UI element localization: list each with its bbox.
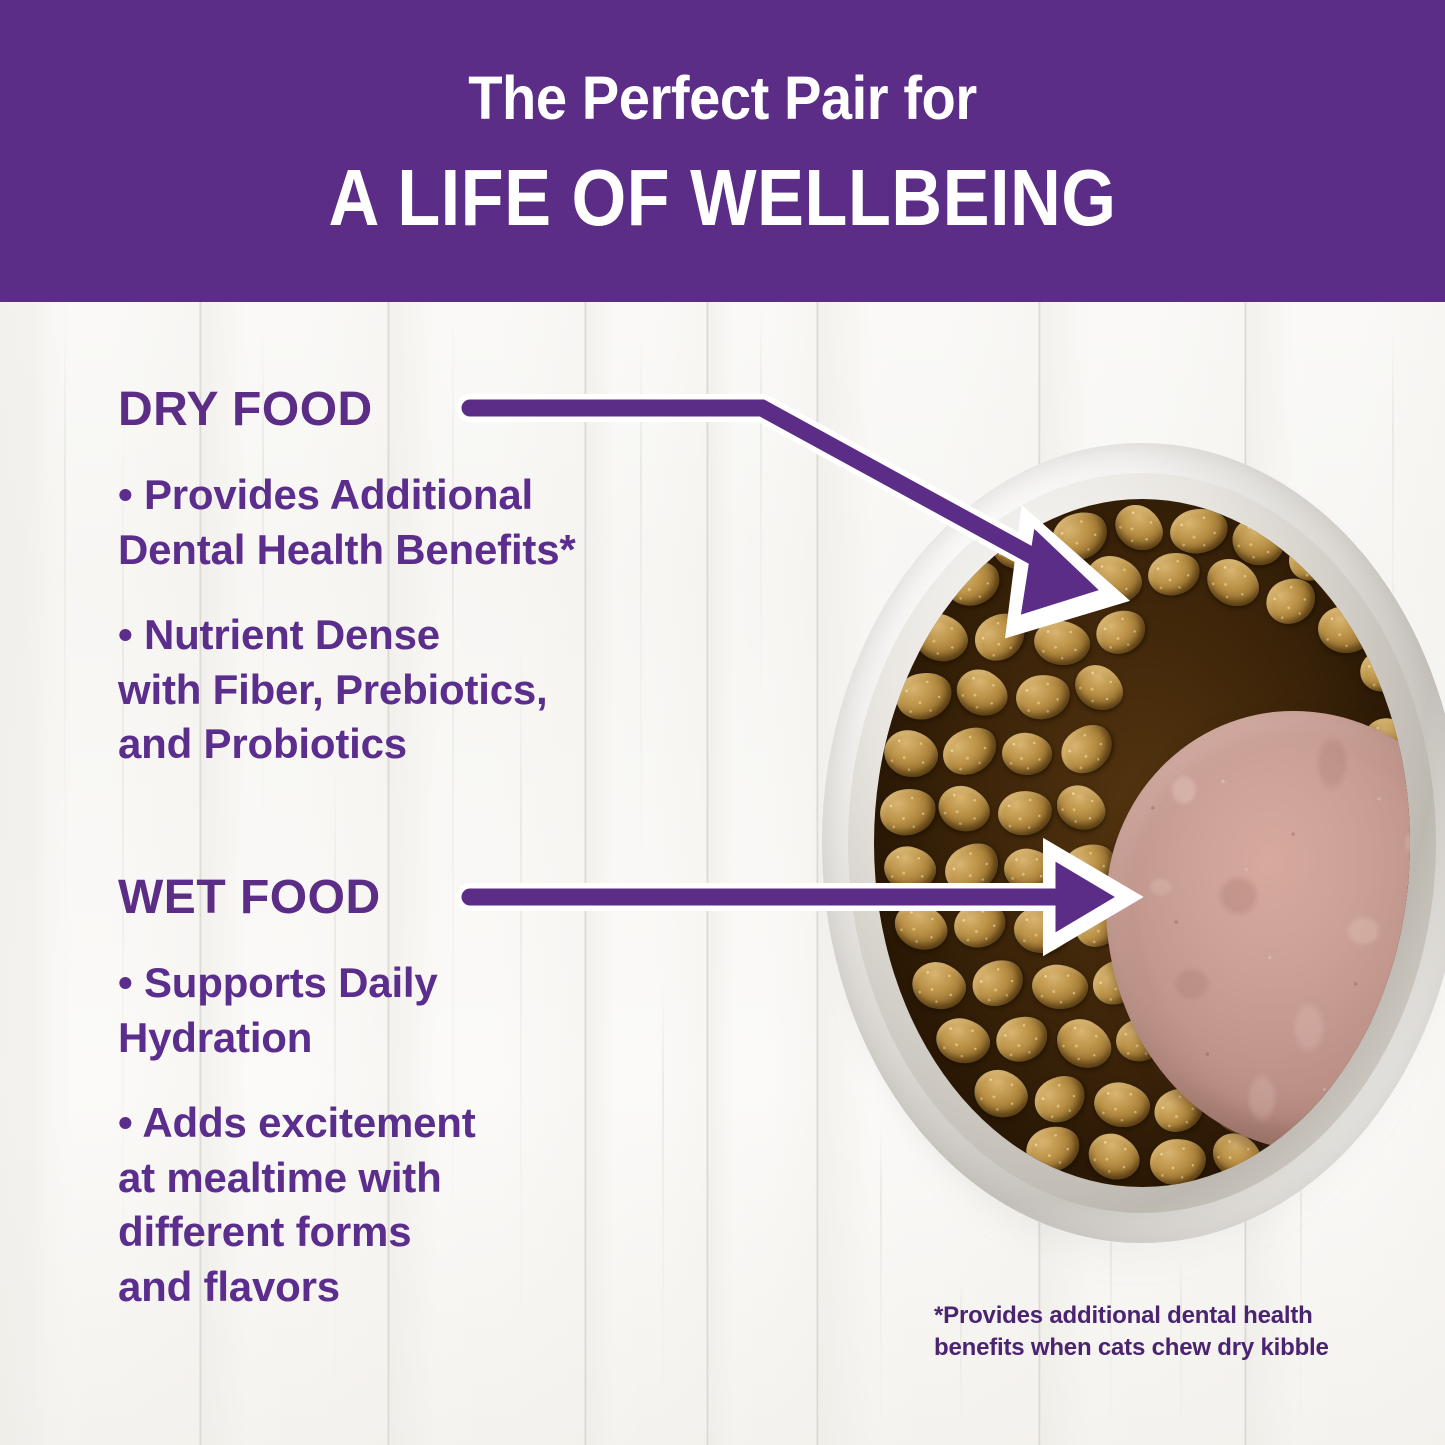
dry-food-heading: DRY FOOD [118,386,373,434]
header-band: The Perfect Pair for A LIFE OF WELLBEING [0,0,1445,302]
bowl-interior [874,499,1410,1187]
dry-food-bullet-1-line-1: • Provides Additional [118,468,798,523]
footnote-line-2: benefits when cats chew dry kibble [934,1332,1364,1364]
wet-food-bullet-1-line-2: Hydration [118,1011,798,1066]
wet-food-bullet-2-line-4: and flavors [118,1260,798,1315]
dry-food-bullet-2-line-2: with Fiber, Prebiotics, [118,663,798,718]
wet-food-bullet-2-line-3: different forms [118,1205,798,1260]
header-title-line1: The Perfect Pair for [58,68,1387,129]
pet-food-bowl-photo [822,443,1445,1283]
wet-food-bullet-1: • Supports Daily Hydration [118,956,798,1065]
infographic-page: The Perfect Pair for A LIFE OF WELLBEING [0,0,1445,1445]
dry-food-bullet-2-line-3: and Probiotics [118,717,798,772]
wet-food-bullet-2-line-2: at mealtime with [118,1151,798,1206]
footnote-line-1: *Provides additional dental health [934,1300,1364,1332]
wet-food-heading: WET FOOD [118,874,381,922]
header-title-line2: A LIFE OF WELLBEING [87,158,1359,238]
dry-food-bullet-2-line-1: • Nutrient Dense [118,608,798,663]
footnote: *Provides additional dental health benef… [934,1300,1364,1363]
wet-food-bullet-2-line-1: • Adds excitement [118,1096,798,1151]
wet-food-bullet-2: • Adds excitement at mealtime with diffe… [118,1096,798,1314]
dry-food-bullet-1: • Provides Additional Dental Health Bene… [118,468,798,577]
wet-food-bullet-1-line-1: • Supports Daily [118,956,798,1011]
dry-food-bullet-1-line-2: Dental Health Benefits* [118,523,798,578]
dry-food-bullet-2: • Nutrient Dense with Fiber, Prebiotics,… [118,608,798,772]
